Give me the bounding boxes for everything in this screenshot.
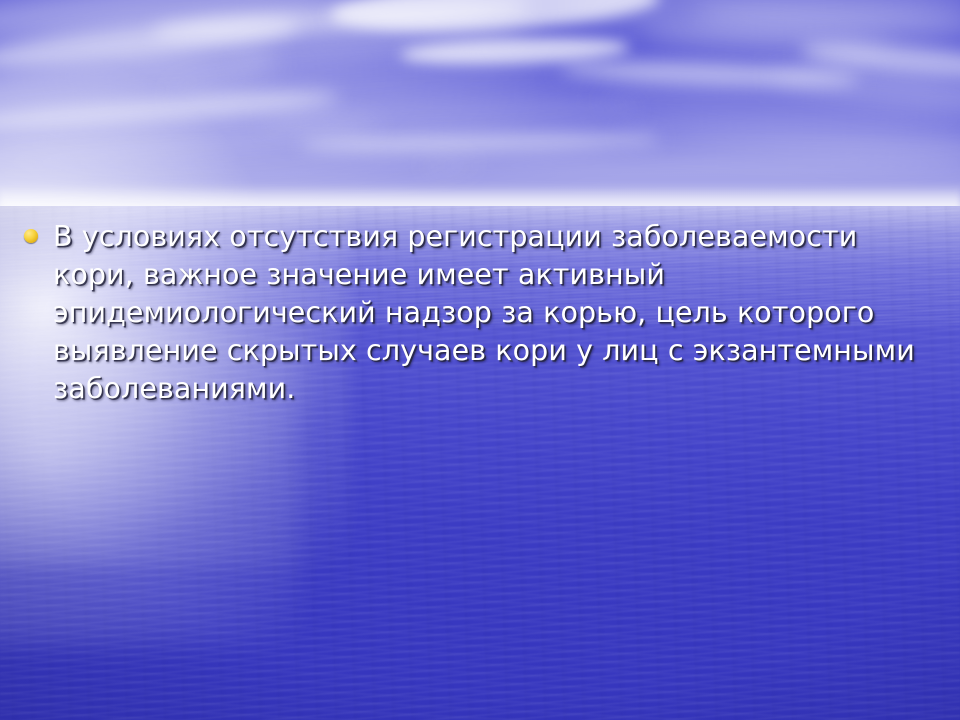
gold-circle-bullet-icon: [24, 229, 38, 243]
presentation-slide: В условиях отсутствия регистрации заболе…: [0, 0, 960, 720]
bullet-text: В условиях отсутствия регистрации заболе…: [53, 218, 939, 408]
list-item: В условиях отсутствия регистрации заболе…: [24, 218, 939, 408]
slide-content: В условиях отсутствия регистрации заболе…: [0, 0, 960, 720]
